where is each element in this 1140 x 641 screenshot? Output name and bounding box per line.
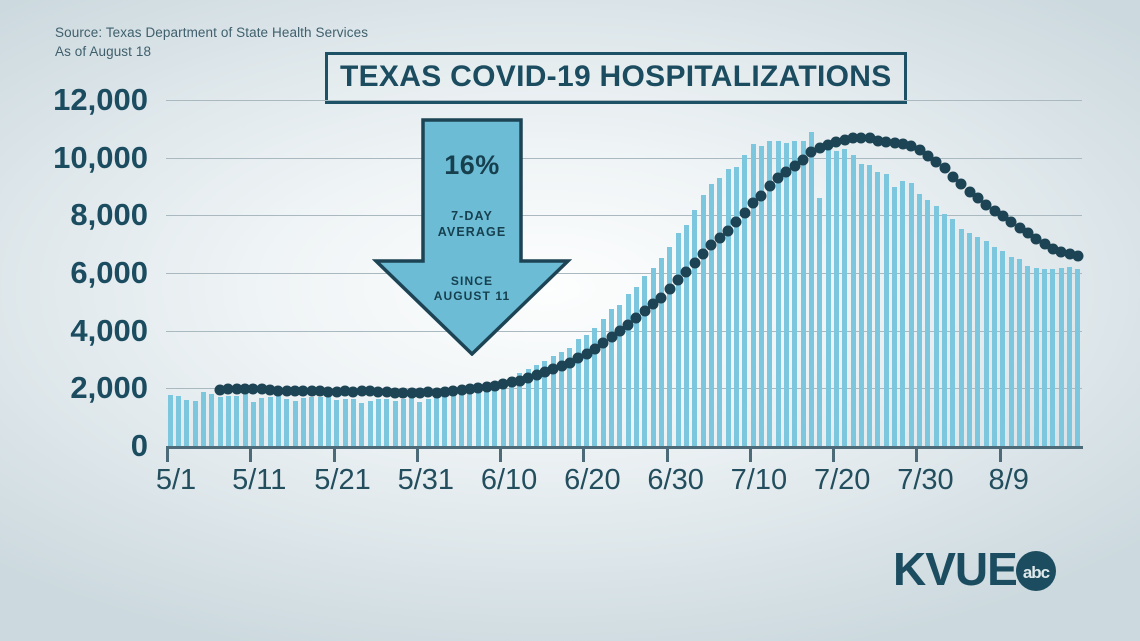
y-axis-label: 2,000 [0, 370, 148, 406]
gridline [166, 100, 1082, 101]
bar [376, 399, 381, 446]
kvue-logo: KVUEabc [893, 546, 1057, 592]
bar [1025, 266, 1030, 446]
bar [792, 141, 797, 446]
bar [484, 386, 489, 446]
trend-dot [689, 257, 700, 268]
logo-network-text: KVUE [893, 543, 1017, 595]
abc-circle-icon: abc [1015, 550, 1057, 592]
gridline [166, 158, 1082, 159]
x-axis-line [166, 446, 1083, 449]
bar [226, 396, 231, 446]
x-axis-tick [416, 449, 419, 462]
x-axis-label: 5/1 [156, 464, 196, 497]
bar [184, 400, 189, 446]
bar [950, 219, 955, 446]
bar [1042, 269, 1047, 446]
bar [709, 184, 714, 446]
logo-affiliate-text: abc [1023, 563, 1050, 582]
bar [293, 401, 298, 446]
bar [501, 380, 506, 446]
trend-dot [1072, 251, 1083, 262]
bar [826, 146, 831, 446]
bar [1000, 251, 1005, 446]
arrow-percent: 16% [372, 150, 572, 181]
bar [992, 247, 997, 446]
bar [959, 229, 964, 446]
bar [284, 399, 289, 446]
bar [326, 396, 331, 446]
trend-dot [731, 216, 742, 227]
bar [168, 395, 173, 446]
bar [401, 399, 406, 446]
bar [784, 143, 789, 446]
x-axis-label: 5/31 [398, 464, 454, 497]
x-axis-tick [249, 449, 252, 462]
bar [776, 141, 781, 446]
bar [701, 195, 706, 446]
trend-arrow-annotation: 16% 7-DAY AVERAGE SINCE AUGUST 11 [372, 118, 572, 356]
bar [234, 396, 239, 446]
bar [717, 178, 722, 446]
x-axis-tick [582, 449, 585, 462]
x-axis-label: 7/30 [897, 464, 953, 497]
x-axis-tick [999, 449, 1002, 462]
trend-dot [698, 248, 709, 259]
y-axis-label: 12,000 [0, 82, 148, 118]
x-axis-label: 6/10 [481, 464, 537, 497]
bar [942, 214, 947, 446]
bar [634, 287, 639, 446]
bar [467, 390, 472, 446]
bar [967, 233, 972, 446]
x-axis-tick [333, 449, 336, 462]
bar [742, 155, 747, 446]
bar [417, 402, 422, 446]
y-axis-label: 4,000 [0, 313, 148, 349]
y-axis-label: 8,000 [0, 197, 148, 233]
bar [334, 400, 339, 446]
bar [426, 399, 431, 446]
bar [925, 200, 930, 446]
bar [917, 194, 922, 446]
bar [1009, 257, 1014, 446]
bar [193, 401, 198, 446]
bar [384, 399, 389, 446]
bar [351, 399, 356, 446]
bar [459, 392, 464, 446]
bar [176, 396, 181, 446]
bar [875, 172, 880, 446]
bar [434, 397, 439, 446]
arrow-period-label: SINCE AUGUST 11 [372, 274, 572, 304]
bar [909, 183, 914, 446]
bar [301, 398, 306, 446]
bar [609, 309, 614, 446]
bar [892, 187, 897, 446]
x-axis-label: 7/20 [814, 464, 870, 497]
trend-dot [756, 190, 767, 201]
bar [276, 396, 281, 446]
x-axis-label: 5/11 [232, 464, 286, 497]
y-axis-label: 6,000 [0, 255, 148, 291]
bar [809, 132, 814, 446]
bar [1017, 259, 1022, 446]
arrow-metric-line-2: AVERAGE [372, 224, 572, 240]
bar [343, 399, 348, 446]
x-axis-label: 5/21 [314, 464, 370, 497]
bar [684, 225, 689, 446]
bar [442, 395, 447, 446]
x-axis-label: 6/20 [564, 464, 620, 497]
infographic-canvas: Source: Texas Department of State Health… [0, 0, 1140, 641]
bar [801, 141, 806, 446]
bar [867, 165, 872, 446]
y-axis-label: 10,000 [0, 140, 148, 176]
bar [984, 241, 989, 446]
bar [209, 394, 214, 446]
bar [667, 247, 672, 446]
trend-dot [664, 284, 675, 295]
bar [492, 384, 497, 446]
bar [851, 155, 856, 446]
bar [309, 397, 314, 446]
bar [692, 210, 697, 446]
bar [476, 388, 481, 446]
bar [218, 397, 223, 446]
bar [651, 268, 656, 446]
bar [251, 402, 256, 446]
trend-dot [656, 293, 667, 304]
x-axis-tick [749, 449, 752, 462]
bar [368, 401, 373, 446]
bar [659, 258, 664, 446]
arrow-metric-line-1: 7-DAY [372, 208, 572, 224]
bar [751, 144, 756, 446]
bar [934, 206, 939, 446]
bar [642, 276, 647, 446]
bar [817, 198, 822, 446]
arrow-period-line-1: SINCE [372, 274, 572, 289]
bar [268, 397, 273, 446]
x-axis-tick [666, 449, 669, 462]
bar [451, 394, 456, 446]
y-axis-label: 0 [0, 428, 148, 464]
bar [243, 394, 248, 446]
bar [834, 151, 839, 446]
x-axis-tick [832, 449, 835, 462]
trend-dot [681, 267, 692, 278]
bar [409, 398, 414, 446]
x-axis-tick [915, 449, 918, 462]
bar [900, 181, 905, 446]
bar [1050, 269, 1055, 446]
logo-lockup: KVUEabc [893, 546, 1057, 592]
bar [884, 174, 889, 446]
x-axis-tick [166, 449, 169, 462]
bar [359, 403, 364, 446]
bar [201, 392, 206, 446]
trend-dot [739, 207, 750, 218]
bar [734, 167, 739, 446]
bar [1067, 267, 1072, 446]
bar [259, 398, 264, 446]
trend-dot [723, 226, 734, 237]
bar [1034, 268, 1039, 446]
bar [676, 233, 681, 446]
x-axis-label: 8/9 [989, 464, 1029, 497]
bar [626, 294, 631, 446]
bar [1059, 268, 1064, 446]
bar [842, 149, 847, 446]
bar [975, 237, 980, 446]
x-axis-tick [499, 449, 502, 462]
bar [318, 397, 323, 446]
x-axis-label: 7/10 [731, 464, 787, 497]
bar [393, 401, 398, 446]
x-axis-label: 6/30 [647, 464, 703, 497]
arrow-metric-label: 7-DAY AVERAGE [372, 208, 572, 240]
bar [726, 169, 731, 446]
bar [1075, 269, 1080, 446]
bar [859, 164, 864, 446]
arrow-period-line-2: AUGUST 11 [372, 289, 572, 304]
